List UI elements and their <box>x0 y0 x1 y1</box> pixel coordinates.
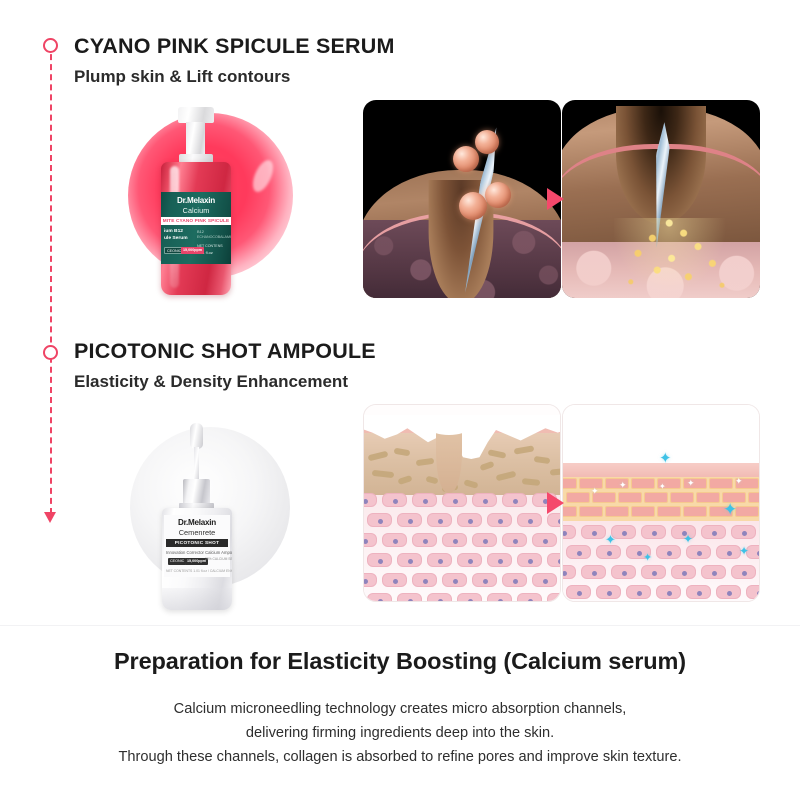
skin-cell <box>427 553 452 567</box>
sparkle-icon: ✦ <box>739 545 749 557</box>
cell-nucleus <box>423 539 428 544</box>
cell-nucleus <box>378 599 383 603</box>
cell-nucleus <box>558 559 561 564</box>
cell-nucleus <box>513 539 518 544</box>
cell-nucleus <box>408 519 413 524</box>
skin-cell <box>472 533 497 547</box>
footer-text-block: Preparation for Elasticity Boosting (Cal… <box>0 648 800 769</box>
panel-spicule-needle-on-pore <box>363 100 561 298</box>
arrow-right-icon-section-1 <box>547 188 564 210</box>
cell-nucleus <box>607 591 612 596</box>
skin-cell <box>596 585 621 599</box>
label-chip-right: 15,000ppm <box>181 247 204 254</box>
cell-nucleus <box>592 571 597 576</box>
skin-cell <box>502 573 527 587</box>
sparkle-icon: ✦ <box>659 451 672 466</box>
cell-nucleus <box>697 551 702 556</box>
footer-line-3: Through these channels, collagen is abso… <box>119 749 682 765</box>
skin-cell <box>562 565 576 579</box>
collagen-fiber <box>522 478 541 486</box>
dropper-bulb <box>190 423 203 449</box>
panel-spicule-releasing-particles <box>562 100 760 298</box>
dropper-stem <box>194 447 199 481</box>
collagen-brick <box>683 506 707 517</box>
label-black-bar: PICOTONIC SHOT <box>166 539 228 547</box>
label-product-line: Calcium <box>167 206 225 215</box>
cell-nucleus <box>468 559 473 564</box>
cell-nucleus <box>423 579 428 584</box>
cell-nucleus <box>727 591 732 596</box>
picotonic-shot-ampoule-bottle: Dr.Melaxin Cemenrete PICOTONIC SHOT Inno… <box>152 423 240 613</box>
collagen-fiber <box>416 458 435 466</box>
vertical-timeline <box>41 38 61 528</box>
footer-body: Calcium microneedling technology creates… <box>0 697 800 769</box>
collagen-fiber <box>479 461 494 471</box>
section-1-heading-group: CYANO PINK SPICULE SERUM Plump skin & Li… <box>74 34 395 87</box>
cell-nucleus <box>438 599 443 603</box>
cell-nucleus <box>528 599 533 603</box>
cell-nucleus <box>528 519 533 524</box>
cell-nucleus <box>697 591 702 596</box>
skin-cell <box>566 585 591 599</box>
skin-cell <box>367 593 392 602</box>
skin-cell <box>397 513 422 527</box>
bottle-body: Dr.Melaxin Cemenrete PICOTONIC SHOT Inno… <box>162 508 232 610</box>
pump-cap <box>178 107 214 123</box>
collagen-brick <box>709 478 733 489</box>
skin-cell <box>487 593 512 602</box>
skin-cell <box>412 573 437 587</box>
timeline-arrow-down-icon <box>44 512 56 523</box>
skin-cell <box>517 553 542 567</box>
cell-nucleus <box>393 579 398 584</box>
collagen-brick <box>562 506 577 517</box>
cell-nucleus <box>757 591 760 596</box>
calcium-sphere <box>485 182 511 208</box>
sparkle-icon: ✦ <box>683 533 693 545</box>
cell-nucleus <box>363 539 368 544</box>
skin-cell <box>487 553 512 567</box>
skin-cell <box>566 545 591 559</box>
cell-nucleus <box>652 531 657 536</box>
sparkle-icon: ✦ <box>605 533 616 546</box>
skin-cell <box>442 533 467 547</box>
skin-cell <box>532 573 557 587</box>
dermal-illustration-after <box>562 100 760 298</box>
skin-cell <box>562 525 576 539</box>
label-brand: Dr.Melaxin <box>167 196 225 205</box>
skin-cell-grid <box>563 523 760 602</box>
sparkle-icon: ✦ <box>643 553 652 564</box>
cell-nucleus <box>543 579 548 584</box>
cell-nucleus <box>562 531 567 536</box>
skin-cell <box>382 573 407 587</box>
cell-nucleus <box>513 579 518 584</box>
collagen-brick <box>748 492 760 503</box>
skin-cell <box>457 553 482 567</box>
cell-nucleus <box>712 531 717 536</box>
section-2-title: PICOTONIC SHOT AMPOULE <box>74 339 376 365</box>
cell-nucleus <box>393 539 398 544</box>
product-1-image: Dr.Melaxin Calcium MITE CYANO PINK SPICU… <box>110 95 320 310</box>
cell-nucleus <box>408 559 413 564</box>
label-footer: NET CONTENTS 1.01 fl.oz / CALCIUM ENHANC… <box>166 569 228 573</box>
skin-cell <box>367 553 392 567</box>
cell-nucleus <box>742 531 747 536</box>
cell-nucleus <box>622 531 627 536</box>
cell-nucleus <box>408 599 413 603</box>
skin-cell <box>382 493 407 507</box>
panel-firm-skin-cross-section: ✦✦✦✦✦✦ ✦✦✦✦✦ <box>562 404 760 602</box>
skin-cell <box>581 565 606 579</box>
product-2-image: Dr.Melaxin Cemenrete PICOTONIC SHOT Inno… <box>110 405 320 620</box>
skin-cell <box>581 525 606 539</box>
skin-cell <box>656 545 681 559</box>
skin-cell <box>442 493 467 507</box>
skin-cell <box>716 545 741 559</box>
collagen-brick <box>605 506 629 517</box>
skin-cell <box>547 553 561 567</box>
sparkle-icon: ✦ <box>619 481 627 490</box>
label-strip: MITE CYANO PINK SPICULE <box>161 217 231 225</box>
collagen-brick <box>644 492 668 503</box>
skin-cell <box>457 593 482 602</box>
skin-cell <box>641 525 666 539</box>
skin-cell <box>596 545 621 559</box>
skin-cell <box>502 493 527 507</box>
skin-cell <box>472 573 497 587</box>
sparkle-icon: ✦ <box>723 501 737 518</box>
cell-nucleus <box>438 519 443 524</box>
collagen-fiber <box>550 468 561 475</box>
skin-cell <box>363 533 377 547</box>
collagen-brick <box>657 506 681 517</box>
collagen-fiber <box>488 449 507 459</box>
collagen-brick <box>566 492 590 503</box>
collagen-fiber <box>368 451 389 462</box>
collagen-brick <box>618 492 642 503</box>
skin-cell <box>367 513 392 527</box>
cell-nucleus <box>667 591 672 596</box>
section-divider <box>0 625 800 626</box>
cell-nucleus <box>757 551 760 556</box>
skin-cell <box>382 533 407 547</box>
footer-line-2: delivering firming ingredients deep into… <box>246 725 554 741</box>
sparkle-icon: ✦ <box>735 477 743 486</box>
calcium-sphere <box>459 192 487 220</box>
section-2-heading-group: PICOTONIC SHOT AMPOULE Elasticity & Dens… <box>74 339 376 392</box>
infographic-page: CYANO PINK SPICULE SERUM Plump skin & Li… <box>0 0 800 800</box>
label-description: Innovation Corrector Calcium Ampoule <box>166 550 228 555</box>
sparkle-icon: ✦ <box>687 479 695 488</box>
cell-nucleus <box>378 519 383 524</box>
skin-cell <box>547 593 561 602</box>
cell-nucleus <box>438 559 443 564</box>
cyano-pink-spicule-serum-bottle: Dr.Melaxin Calcium MITE CYANO PINK SPICU… <box>157 107 235 297</box>
label-right-line-1: B12 <box>197 229 204 234</box>
collagen-brick <box>696 492 720 503</box>
cell-nucleus <box>528 559 533 564</box>
cell-nucleus <box>577 591 582 596</box>
collagen-brick <box>579 506 603 517</box>
skin-cell <box>487 513 512 527</box>
collagen-fiber <box>425 476 438 485</box>
skin-cell <box>746 585 760 599</box>
timeline-marker-step-1 <box>43 38 58 53</box>
collagen-brick <box>631 478 655 489</box>
skin-cell <box>427 593 452 602</box>
collagen-fiber <box>372 470 395 478</box>
collagen-fiber <box>496 471 517 482</box>
cell-nucleus <box>498 559 503 564</box>
cell-nucleus <box>468 519 473 524</box>
skin-cell-grid <box>364 493 561 602</box>
cell-nucleus <box>577 551 582 556</box>
cell-nucleus <box>558 519 561 524</box>
skin-cell <box>412 533 437 547</box>
skin-cell <box>626 585 651 599</box>
calcium-sphere <box>453 146 479 172</box>
skin-cell <box>457 513 482 527</box>
skin-cell <box>397 593 422 602</box>
cell-nucleus <box>498 599 503 603</box>
cell-nucleus <box>652 571 657 576</box>
section-1-subtitle: Plump skin & Lift contours <box>74 67 395 87</box>
cell-nucleus <box>423 499 428 504</box>
cell-nucleus <box>667 551 672 556</box>
collagen-fiber <box>534 456 551 464</box>
cell-nucleus <box>453 539 458 544</box>
collagen-fiber <box>463 479 478 489</box>
skin-cell <box>502 533 527 547</box>
skin-cell <box>517 513 542 527</box>
cell-nucleus <box>483 579 488 584</box>
collagen-brick <box>631 506 655 517</box>
skin-cell <box>716 585 741 599</box>
calcium-sphere <box>475 130 499 154</box>
arrow-right-icon-section-2 <box>547 492 564 514</box>
cell-nucleus <box>592 531 597 536</box>
skin-cell <box>442 573 467 587</box>
cell-nucleus <box>363 499 368 504</box>
collagen-brick <box>735 506 759 517</box>
skin-cell <box>363 493 377 507</box>
skin-cell <box>517 593 542 602</box>
pump-neck <box>186 122 205 156</box>
label-chip-left: CEONIC <box>168 558 186 565</box>
cell-nucleus <box>712 571 717 576</box>
cell-nucleus <box>453 499 458 504</box>
panel-sagging-skin-cross-section <box>363 404 561 602</box>
footer-line-1: Calcium microneedling technology creates… <box>174 701 627 717</box>
skin-cell <box>656 585 681 599</box>
cell-nucleus <box>637 591 642 596</box>
collagen-brick <box>670 492 694 503</box>
collagen-brick <box>562 478 577 489</box>
ingredient-particle-burst <box>614 218 734 298</box>
cell-nucleus <box>742 571 747 576</box>
label-name-line-1: ium B12 <box>164 229 183 234</box>
sparkle-icon: ✦ <box>659 483 666 491</box>
cell-nucleus <box>562 571 567 576</box>
dropper-cap <box>183 479 210 505</box>
cell-nucleus <box>637 551 642 556</box>
label-product-line: Cemenrete <box>168 528 226 537</box>
cell-nucleus <box>393 499 398 504</box>
timeline-marker-step-2 <box>43 345 58 360</box>
section-1-title: CYANO PINK SPICULE SERUM <box>74 34 395 60</box>
cell-nucleus <box>498 519 503 524</box>
skin-cell <box>532 533 557 547</box>
timeline-dashed-line <box>50 44 52 514</box>
skin-cell <box>427 513 452 527</box>
skin-cell <box>731 525 756 539</box>
bottle-label: Dr.Melaxin Calcium MITE CYANO PINK SPICU… <box>161 192 231 264</box>
skin-cell <box>611 565 636 579</box>
skin-cell <box>701 565 726 579</box>
skin-cell <box>686 545 711 559</box>
section-2-subtitle: Elasticity & Density Enhancement <box>74 372 376 392</box>
skin-cell <box>363 573 377 587</box>
skin-cell <box>472 493 497 507</box>
label-right-line-2: ECHANOCOBALAMIN <box>197 235 231 239</box>
skin-cell <box>686 585 711 599</box>
skin-cell <box>412 493 437 507</box>
collagen-fiber <box>394 448 411 457</box>
skin-cell <box>671 565 696 579</box>
label-black-bar-text: PICOTONIC SHOT <box>166 540 228 545</box>
cell-nucleus <box>453 579 458 584</box>
label-strip-text: MITE CYANO PINK SPICULE <box>161 218 231 223</box>
footer-heading: Preparation for Elasticity Boosting (Cal… <box>0 648 800 675</box>
cell-nucleus <box>483 499 488 504</box>
cell-nucleus <box>543 539 548 544</box>
skin-cell <box>641 565 666 579</box>
cell-nucleus <box>468 599 473 603</box>
glow-sheen <box>249 157 277 195</box>
collagen-fiber <box>514 445 535 454</box>
label-right-note: 20% CALCIUM SERUM PROLONG SYSTEM <box>205 557 232 562</box>
cell-nucleus <box>727 551 732 556</box>
cell-nucleus <box>513 499 518 504</box>
skin-cell <box>731 565 756 579</box>
skin-cell <box>547 513 561 527</box>
cell-nucleus <box>558 599 561 603</box>
dermal-illustration-before <box>363 100 561 298</box>
skin-cell <box>397 553 422 567</box>
collagen-fiber <box>397 475 412 485</box>
cell-nucleus <box>378 559 383 564</box>
bottle-body: Dr.Melaxin Calcium MITE CYANO PINK SPICU… <box>161 162 231 295</box>
skin-cell <box>701 525 726 539</box>
label-brand: Dr.Melaxin <box>168 518 226 527</box>
bottle-label: Dr.Melaxin Cemenrete PICOTONIC SHOT Inno… <box>164 515 230 577</box>
cell-nucleus <box>607 551 612 556</box>
label-name-line-2: ule Serum <box>164 236 188 241</box>
cell-nucleus <box>363 579 368 584</box>
cell-nucleus <box>483 539 488 544</box>
cell-nucleus <box>622 571 627 576</box>
cell-nucleus <box>682 571 687 576</box>
sparkle-icon: ✦ <box>591 487 599 496</box>
